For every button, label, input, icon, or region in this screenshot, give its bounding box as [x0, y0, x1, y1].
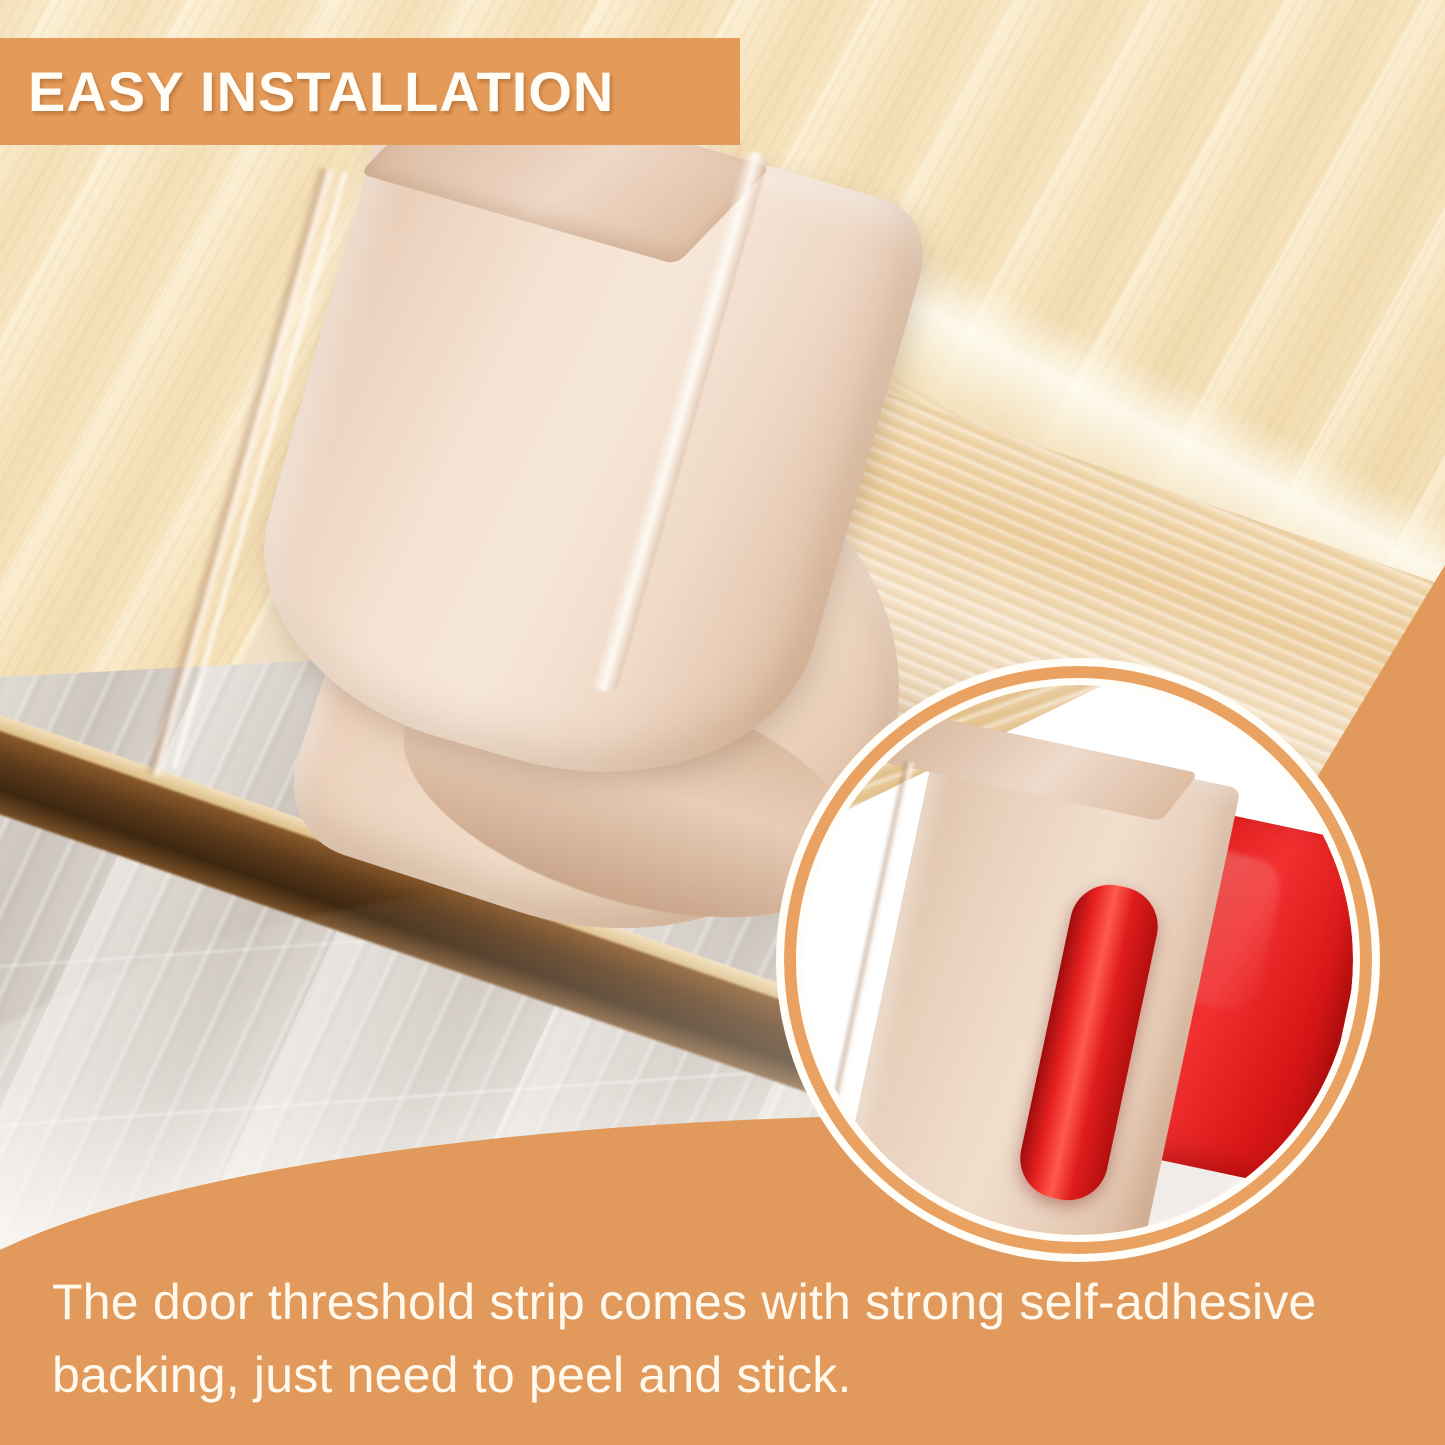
product-marketing-image: EASY INSTALLATION The door threshold str… [0, 0, 1445, 1445]
footer-caption-line-2: backing, just need to peel and stick. [52, 1339, 1412, 1412]
headline-text: EASY INSTALLATION [0, 59, 614, 124]
adhesive-detail-inset [778, 660, 1378, 1260]
footer-caption-line-1: The door threshold strip comes with stro… [52, 1266, 1412, 1339]
footer-caption: The door threshold strip comes with stro… [52, 1266, 1412, 1411]
inset-ring-outer-white [778, 660, 1378, 1260]
headline-banner: EASY INSTALLATION [0, 38, 740, 145]
